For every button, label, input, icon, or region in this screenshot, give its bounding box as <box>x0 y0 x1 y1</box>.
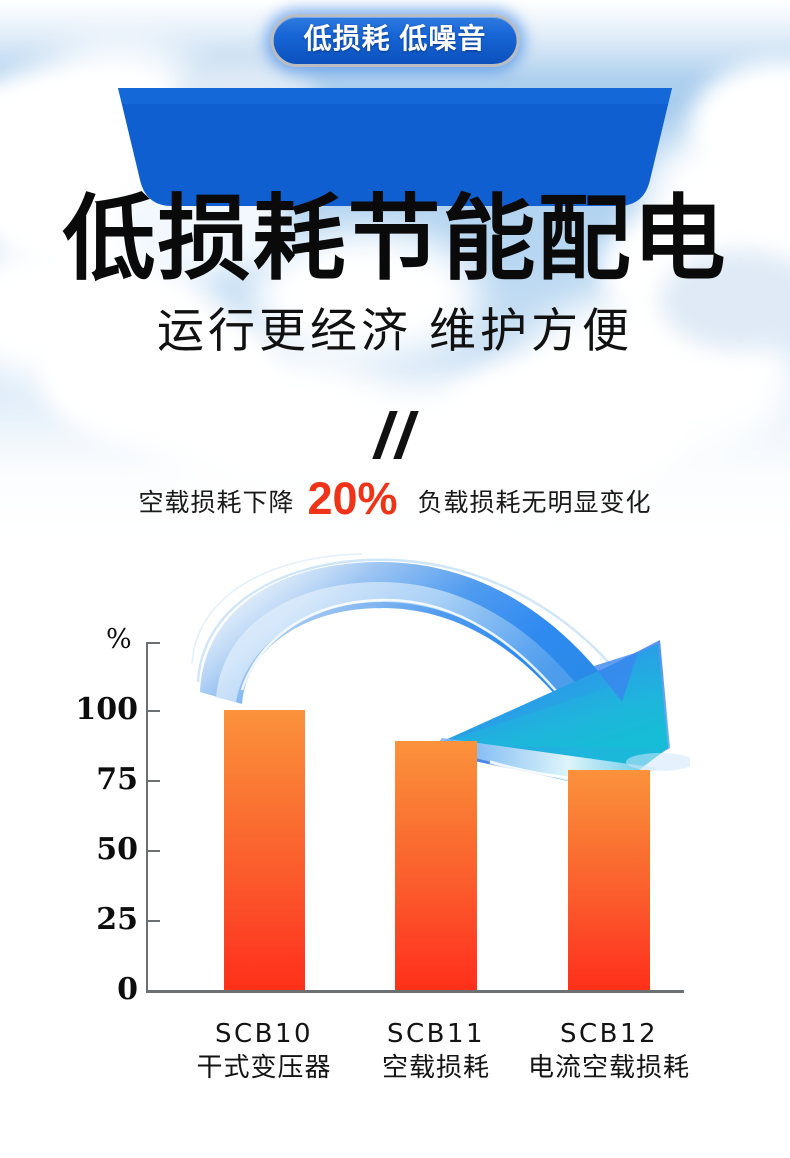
x-category-code: SCB11 <box>336 1018 536 1051</box>
axis-tick <box>146 710 160 712</box>
pill-label: 低损耗 低噪音 <box>304 23 487 55</box>
slash-divider <box>0 405 790 465</box>
x-category-code: SCB10 <box>164 1018 364 1051</box>
slash-mark-icon <box>393 411 418 459</box>
sky-fade-overlay <box>0 370 790 560</box>
headline-pill-badge: 低损耗 低噪音 <box>271 14 520 67</box>
axis-tick <box>146 780 160 782</box>
axis-tick <box>146 850 160 852</box>
x-category-scb12: SCB12 电流空载损耗 <box>509 1018 709 1084</box>
bar-scb11 <box>395 741 477 990</box>
stat-left-text: 空载损耗下降 <box>138 483 294 519</box>
x-category-code: SCB12 <box>509 1018 709 1051</box>
y-tick-label: 0 <box>40 972 138 1007</box>
y-axis-label: % <box>106 624 132 655</box>
y-tick-label: 25 <box>40 902 138 937</box>
y-tick-label: 100 <box>40 692 138 727</box>
x-category-sublabel: 空载损耗 <box>336 1051 536 1085</box>
axis-tick <box>146 920 160 922</box>
bar-scb10 <box>224 710 305 990</box>
headline-block: 低损耗节能配电 运行更经济 维护方便 <box>0 190 790 359</box>
stat-line: 空载损耗下降 20% 负载损耗无明显变化 <box>0 470 790 522</box>
x-axis-line <box>146 990 684 993</box>
x-category-sublabel: 电流空载损耗 <box>509 1051 709 1085</box>
stat-percentage: 20% <box>307 473 397 525</box>
x-category-scb10: SCB10 干式变压器 <box>164 1018 364 1084</box>
x-category-sublabel: 干式变压器 <box>164 1051 364 1085</box>
bar-chart: % 100 75 50 25 0 SCB10 干式变压器 SCB11 空载损耗 … <box>0 600 790 1100</box>
y-axis-line <box>146 642 148 992</box>
page-subtitle: 运行更经济 维护方便 <box>0 303 790 359</box>
slash-mark-icon <box>372 411 397 459</box>
axis-tick <box>146 642 160 644</box>
bar-scb12 <box>568 770 650 990</box>
stat-right-text: 负载损耗无明显变化 <box>418 483 652 519</box>
y-tick-label: 75 <box>40 762 138 797</box>
page-title: 低损耗节能配电 <box>0 190 790 289</box>
x-category-scb11: SCB11 空载损耗 <box>336 1018 536 1084</box>
y-tick-label: 50 <box>40 832 138 867</box>
